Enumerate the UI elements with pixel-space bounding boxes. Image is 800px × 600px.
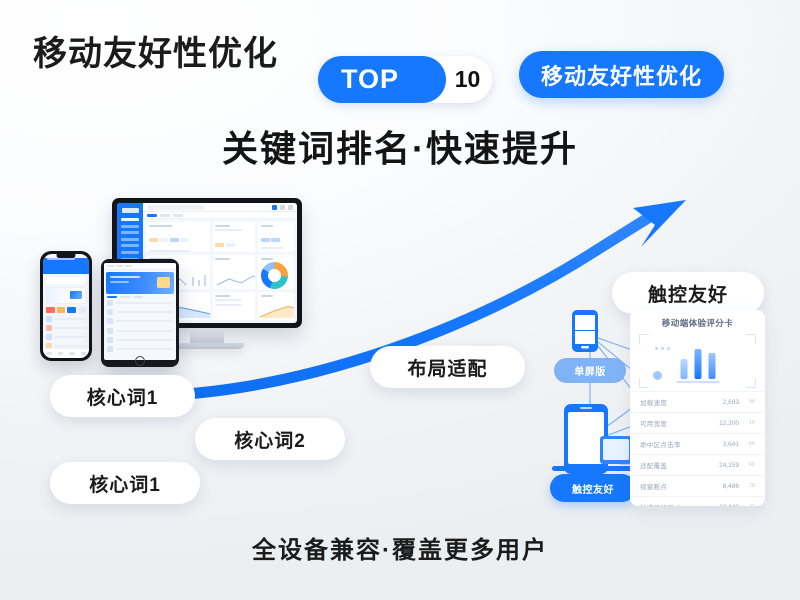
phone-notch xyxy=(57,253,76,258)
phone-screen xyxy=(43,254,89,358)
scorecard-row-name: 加载速度 xyxy=(640,397,713,407)
scorecard-row-name: 视窗断点 xyxy=(640,481,713,491)
scorecard-row-name: 适配覆盖 xyxy=(640,460,713,470)
list-item xyxy=(46,334,86,340)
dashboard-tabs xyxy=(143,212,297,219)
scorecard-row-delta: 18 xyxy=(739,420,755,426)
dashboard-logo-icon xyxy=(122,208,139,213)
scorecard-row-delta: 66 xyxy=(739,441,755,447)
list-item xyxy=(107,300,173,306)
scorecard-title: 移动端体验评分卡 xyxy=(630,317,765,329)
touch-friendly-pill: 触控友好 xyxy=(550,474,636,502)
tablet-home-button xyxy=(135,356,145,366)
tablet-hero-banner xyxy=(106,272,174,294)
monitor-stand-neck xyxy=(190,328,224,343)
sidebar-item xyxy=(121,238,139,241)
scorecard-rows: 加载速度2,69398可用宽度12,20018命中区点击率3,64166适配覆盖… xyxy=(630,391,765,506)
keyword-chip-3: 核心词1 xyxy=(50,462,200,504)
phone-app-header xyxy=(43,258,89,274)
scorecard-row-name: 触摸目标尺寸 xyxy=(640,502,713,506)
scorecard-row: 适配覆盖24,15960 xyxy=(630,454,765,475)
tab-item xyxy=(147,214,157,217)
footer-text: 全设备兼容·覆盖更多用户 xyxy=(0,530,800,565)
single-screen-pill: 单屏版 xyxy=(554,358,626,383)
sidebar-item xyxy=(121,244,139,247)
mobile-experience-diagram: 单屏版 触控友好 移动端体验评分卡 加载速度2,69398可用宽度12,2001… xyxy=(540,308,780,508)
monitor-stand-base xyxy=(170,343,244,349)
scorecard-row-delta: 28 xyxy=(739,483,755,489)
scorecard-row-value: 12,449 xyxy=(713,504,739,507)
list-item xyxy=(107,337,173,343)
scorecard-row-value: 3,641 xyxy=(713,441,739,448)
list-item xyxy=(107,318,173,324)
scorecard-row: 触摸目标尺寸12,44941 xyxy=(630,496,765,506)
list-item xyxy=(46,325,86,331)
scorecard-row-delta: 41 xyxy=(739,504,755,506)
list-item xyxy=(46,316,86,322)
tablet-topbar xyxy=(104,263,176,270)
dashboard-topbar xyxy=(143,203,297,212)
phone-search-input xyxy=(46,277,86,284)
dashboard-card xyxy=(213,222,256,252)
area-chart-icon xyxy=(260,304,294,318)
scorecard-row-delta: 98 xyxy=(739,399,755,405)
small-phone-icon xyxy=(572,310,598,352)
line-chart-icon xyxy=(215,273,256,287)
sidebar-item xyxy=(121,231,139,234)
chart-marker-icon xyxy=(653,371,662,380)
scorecard-row: 加载速度2,69398 xyxy=(630,391,765,412)
sidebar-item xyxy=(121,251,139,254)
scorecard-row-name: 可用宽度 xyxy=(640,418,713,428)
sidebar-item xyxy=(121,225,139,228)
scorecard-chart xyxy=(639,334,756,388)
dashboard-card xyxy=(258,292,294,320)
topbar-icon xyxy=(272,205,277,210)
chart-dots-icon xyxy=(655,347,670,350)
donut-chart-icon xyxy=(261,262,288,289)
scorecard-row: 可用宽度12,20018 xyxy=(630,412,765,433)
mobile-scorecard: 移动端体验评分卡 加载速度2,69398可用宽度12,20018命中区点击率3,… xyxy=(630,310,765,506)
list-item xyxy=(107,309,173,315)
tab-item xyxy=(160,214,170,217)
list-item xyxy=(107,346,173,352)
scorecard-row-delta: 60 xyxy=(739,462,755,468)
scorecard-row: 命中区点击率3,64166 xyxy=(630,433,765,454)
scorecard-row: 视窗断点8,48628 xyxy=(630,475,765,496)
tablet-mockup xyxy=(101,259,179,367)
dashboard-donut-card xyxy=(258,255,294,289)
phone-quick-icons xyxy=(46,307,86,313)
keyword-chip-1: 核心词1 xyxy=(50,375,195,417)
list-item xyxy=(107,328,173,334)
phone-tabbar xyxy=(43,348,89,358)
dashboard-card xyxy=(146,222,210,252)
poster-canvas: 移动友好性优化 TOP 10 移动友好性优化 关键词排名·快速提升 xyxy=(0,0,800,600)
scorecard-row-value: 12,200 xyxy=(713,420,739,427)
scorecard-row-name: 命中区点击率 xyxy=(640,439,713,449)
scorecard-row-value: 8,486 xyxy=(713,483,739,490)
dashboard-card xyxy=(258,222,294,252)
layout-adaptation-chip: 布局适配 xyxy=(370,346,525,388)
scorecard-row-value: 2,693 xyxy=(713,399,739,406)
topbar-icon xyxy=(280,205,285,210)
tablet-screen xyxy=(104,263,176,360)
tab-item xyxy=(173,214,183,217)
phone-banner xyxy=(46,287,86,304)
chart-bars-icon xyxy=(680,349,715,379)
dashboard-search-input xyxy=(147,205,205,210)
sidebar-item xyxy=(121,218,139,221)
scorecard-row-value: 24,159 xyxy=(713,462,739,469)
topbar-icon xyxy=(288,205,293,210)
dashboard-card xyxy=(213,255,256,289)
smartphone-mockup xyxy=(40,251,92,361)
tablet-tabs xyxy=(107,296,173,298)
keyword-chip-2: 核心词2 xyxy=(195,418,345,460)
dashboard-card xyxy=(213,292,256,320)
